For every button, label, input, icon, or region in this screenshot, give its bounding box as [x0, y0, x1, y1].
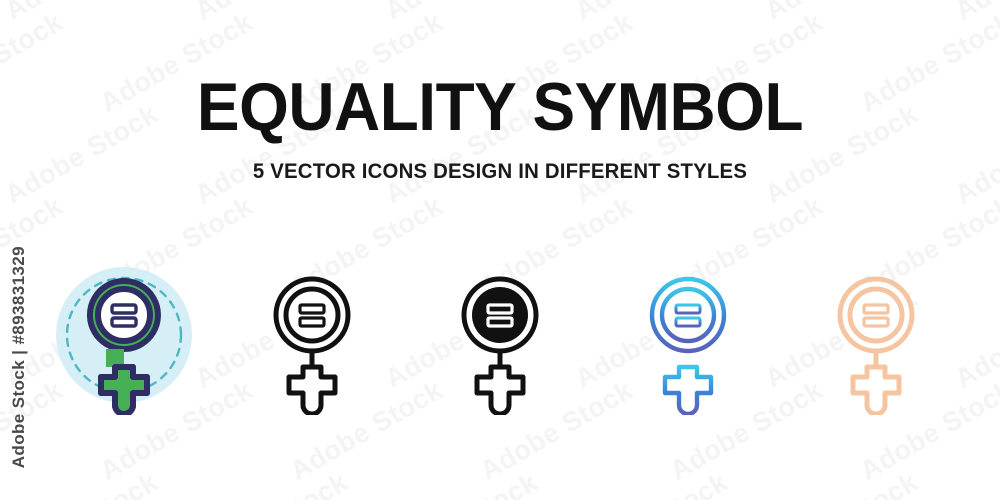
- equals-bar-top: [864, 305, 888, 313]
- equals-bar-bottom: [676, 318, 700, 326]
- venus-inner-disc: [472, 287, 528, 343]
- equality-symbol-gradient-svg: [613, 255, 763, 415]
- icon-set-poster: Adobe StockAdobe StockAdobe StockAdobe S…: [0, 0, 1000, 500]
- icon-row: [0, 250, 1000, 420]
- watermark-text: Adobe Stock: [380, 467, 543, 500]
- icon-equality-symbol-soft[interactable]: [801, 255, 951, 415]
- watermark-text: Adobe Stock: [950, 467, 1000, 500]
- watermark-text: Adobe Stock: [760, 467, 923, 500]
- equals-bar-bottom: [864, 318, 888, 326]
- equals-bar-top: [676, 305, 700, 313]
- venus-glyph: [276, 279, 348, 414]
- equals-bar-bottom: [300, 318, 324, 326]
- equals-bar-top: [300, 305, 324, 313]
- venus-inner-circle: [850, 289, 902, 341]
- venus-cross: [101, 367, 147, 414]
- venus-cross: [853, 367, 899, 414]
- venus-cross: [289, 367, 335, 414]
- venus-inner-circle: [98, 289, 150, 341]
- watermark-text: Adobe Stock: [190, 467, 353, 500]
- equals-bar-bottom: [112, 318, 136, 326]
- page-subtitle: 5 VECTOR ICONS DESIGN IN DIFFERENT STYLE…: [15, 142, 985, 184]
- header-block: EQUALITY SYMBOL 5 VECTOR ICONS DESIGN IN…: [0, 0, 1000, 184]
- icon-equality-symbol-solid[interactable]: [425, 255, 575, 415]
- icon-equality-symbol-flat[interactable]: [49, 255, 199, 415]
- venus-glyph: [652, 279, 724, 414]
- stock-credit: Adobe Stock | #893831329: [2, 0, 36, 500]
- stock-credit-text: Adobe Stock | #893831329: [9, 246, 29, 468]
- equality-symbol-flat-svg: [49, 255, 199, 415]
- equals-bar-top: [112, 305, 136, 313]
- icon-equality-symbol-line[interactable]: [237, 255, 387, 415]
- page-title: EQUALITY SYMBOL: [30, 0, 970, 142]
- venus-cross: [665, 367, 711, 414]
- equality-symbol-line-svg: [237, 255, 387, 415]
- venus-inner-circle: [662, 289, 714, 341]
- venus-inner-circle: [286, 289, 338, 341]
- equals-bar-bottom: [488, 318, 512, 326]
- equals-bar-top: [488, 305, 512, 313]
- watermark-text: Adobe Stock: [570, 467, 733, 500]
- venus-glyph: [464, 279, 536, 414]
- icon-equality-symbol-gradient[interactable]: [613, 255, 763, 415]
- equality-symbol-solid-svg: [425, 255, 575, 415]
- equality-symbol-soft-svg: [801, 255, 951, 415]
- venus-glyph: [840, 279, 912, 414]
- venus-cross: [477, 367, 523, 414]
